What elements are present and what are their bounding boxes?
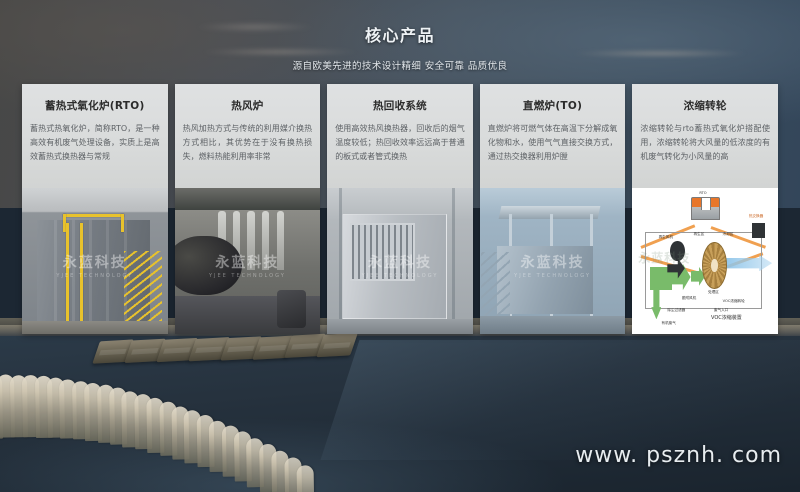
card-title: 浓缩转轮 — [640, 98, 770, 113]
page-root: 核心产品 源自欧美先进的技术设计精细 安全可靠 品质优良 蓄热式氧化炉(RTO)… — [0, 0, 800, 492]
product-card-thermal-oxidizer[interactable]: 直燃炉(TO) 直燃炉将可燃气体在高温下分解成氧化物和水，使用气气直接交换方式，… — [480, 84, 626, 334]
rto-label: RTO — [699, 191, 706, 195]
card-image-rotor-diagram: RTO 再生风机 再生区 冷却区 — [632, 188, 778, 334]
schematic-voc-concentration: RTO 再生风机 再生区 冷却区 — [632, 188, 778, 334]
photo-rto-plant — [22, 188, 168, 334]
water-reflection — [321, 340, 800, 460]
card-image-heat-recovery: 永蓝科技 YJEE TECHNOLOGY — [327, 188, 473, 334]
site-url: www. psznh. com — [575, 443, 782, 468]
card-description: 热风加热方式与传统的利用媒介换热方式相比，其优势在于没有换热损失，燃料热能利用率… — [183, 122, 313, 164]
card-image-rto-plant: 永蓝科技 YJEE TECHNOLOGY — [22, 188, 168, 334]
product-card-rto[interactable]: 蓄热式氧化炉(RTO) 蓄热式热氧化炉，简称RTO，是一种高效有机废气处理设备，… — [22, 84, 168, 334]
product-card-row: 蓄热式氧化炉(RTO) 蓄热式热氧化炉，简称RTO，是一种高效有机废气处理设备，… — [22, 84, 778, 334]
card-description: 浓缩转轮与rto蓄热式氧化炉搭配使用，浓缩转轮将大风量的低浓度的有机废气转化为小… — [640, 122, 770, 164]
card-title: 蓄热式氧化炉(RTO) — [30, 98, 160, 113]
photo-thermal-oxidizer — [480, 188, 626, 334]
card-text-block: 蓄热式氧化炉(RTO) 蓄热式热氧化炉，简称RTO，是一种高效有机废气处理设备，… — [22, 84, 168, 188]
rto-unit-glyph — [691, 197, 720, 220]
cloud-wisp-icon — [200, 48, 360, 56]
wooden-stake-fence — [0, 369, 317, 492]
product-card-heat-recovery[interactable]: 热回收系统 使用高效热风换热器，回收后的烟气温度较低；热回收效率远远高于普通的板… — [327, 84, 473, 334]
card-text-block: 热风炉 热风加热方式与传统的利用媒介换热方式相比，其优势在于没有换热损失，燃料热… — [175, 84, 321, 188]
product-card-hot-blast-furnace[interactable]: 热风炉 热风加热方式与传统的利用媒介换热方式相比，其优势在于没有换热损失，燃料热… — [175, 84, 321, 334]
card-image-thermal-oxidizer: 永蓝科技 YJEE TECHNOLOGY — [480, 188, 626, 334]
card-title: 直燃炉(TO) — [488, 98, 618, 113]
card-title: 热风炉 — [183, 98, 313, 113]
product-card-concentration-rotor[interactable]: 浓缩转轮 浓缩转轮与rto蓄热式氧化炉搭配使用，浓缩转轮将大风量的低浓度的有机废… — [632, 84, 778, 334]
watermark: 永蓝科技 — [638, 249, 690, 266]
photo-heat-recovery-unit — [327, 188, 473, 334]
card-title: 热回收系统 — [335, 98, 465, 113]
photo-hot-blast-furnace — [175, 188, 321, 334]
page-subtitle: 源自欧美先进的技术设计精细 安全可靠 品质优良 — [0, 58, 800, 72]
card-description: 蓄热式热氧化炉，简称RTO，是一种高效有机废气处理设备，实质上是高效蓄热式换热器… — [30, 122, 160, 164]
card-description: 直燃炉将可燃气体在高温下分解成氧化物和水，使用气气直接交换方式，通过热交换器利用… — [488, 122, 618, 164]
card-text-block: 浓缩转轮 浓缩转轮与rto蓄热式氧化炉搭配使用，浓缩转轮将大风量的低浓度的有机废… — [632, 84, 778, 188]
rotor-wheel-glyph — [702, 242, 727, 289]
card-image-hot-blast-furnace: 永蓝科技 YJEE TECHNOLOGY — [175, 188, 321, 334]
page-title: 核心产品 — [0, 22, 800, 46]
card-text-block: 直燃炉(TO) 直燃炉将可燃气体在高温下分解成氧化物和水，使用气气直接交换方式，… — [480, 84, 626, 188]
cloud-wisp-icon — [570, 50, 750, 57]
card-description: 使用高效热风换热器，回收后的烟气温度较低；热回收效率远远高于普通的板式或者管式换… — [335, 122, 465, 164]
diagram-caption: VOC浓缩装置 — [711, 314, 742, 321]
card-text-block: 热回收系统 使用高效热风换热器，回收后的烟气温度较低；热回收效率远远高于普通的板… — [327, 84, 473, 188]
